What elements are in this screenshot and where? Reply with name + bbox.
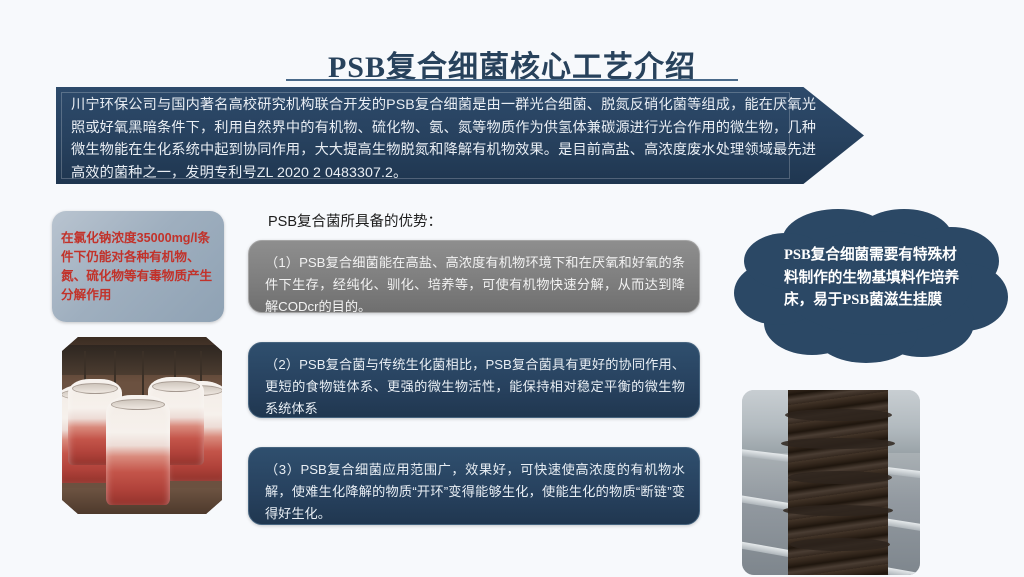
title-underline xyxy=(286,79,738,81)
banner-text: 川宁环保公司与国内著名高校研究机构联合开发的PSB复合细菌是由一群光合细菌、脱氮… xyxy=(71,94,816,184)
salinity-tolerance-badge: 在氯化钠浓度35000mg/l条件下仍能对各种有机物、氮、硫化物等有毒物质产生分… xyxy=(52,211,224,322)
photo-biofilm-carrier xyxy=(742,390,920,575)
tank-lid xyxy=(111,399,165,410)
slide-canvas: PSB复合细菌核心工艺介绍 川宁环保公司与国内著名高校研究机构联合开发的PSB复… xyxy=(0,0,1024,577)
salinity-tolerance-text: 在氯化钠浓度35000mg/l条件下仍能对各种有机物、氮、硫化物等有毒物质产生分… xyxy=(52,229,224,305)
advantage-box-2: （2）PSB复合菌与传统生化菌相比，PSB复合菌具有更好的协同作用、更短的食物链… xyxy=(248,342,700,418)
thought-cloud-text: PSB复合细菌需要有特殊材料制作的生物基填料作培养床，易于PSB菌滋生挂膜 xyxy=(784,244,968,312)
advantages-heading: PSB复合菌所具备的优势： xyxy=(268,210,442,231)
tank-lid xyxy=(72,383,117,394)
tank-lid xyxy=(152,381,199,392)
photo-fermentation-tanks xyxy=(62,337,222,514)
thought-cloud-callout: PSB复合细菌需要有特殊材料制作的生物基填料作培养床，易于PSB菌滋生挂膜 xyxy=(726,205,1020,365)
advantage-box-1: （1）PSB复合细菌能在高盐、高浓度有机物环境下和在厌氧和好氧的条件下生存，经纯… xyxy=(248,240,700,313)
advantage-box-3: （3）PSB复合细菌应用范围广，效果好，可快速使高浓度的有机物水解，使难生化降解… xyxy=(248,447,700,525)
intro-banner-arrow: 川宁环保公司与国内著名高校研究机构联合开发的PSB复合细菌是由一群光合细菌、脱氮… xyxy=(56,87,864,184)
fermentation-tank xyxy=(106,395,170,505)
biofilm-frond xyxy=(790,538,890,551)
biofilm-frond xyxy=(783,505,893,516)
